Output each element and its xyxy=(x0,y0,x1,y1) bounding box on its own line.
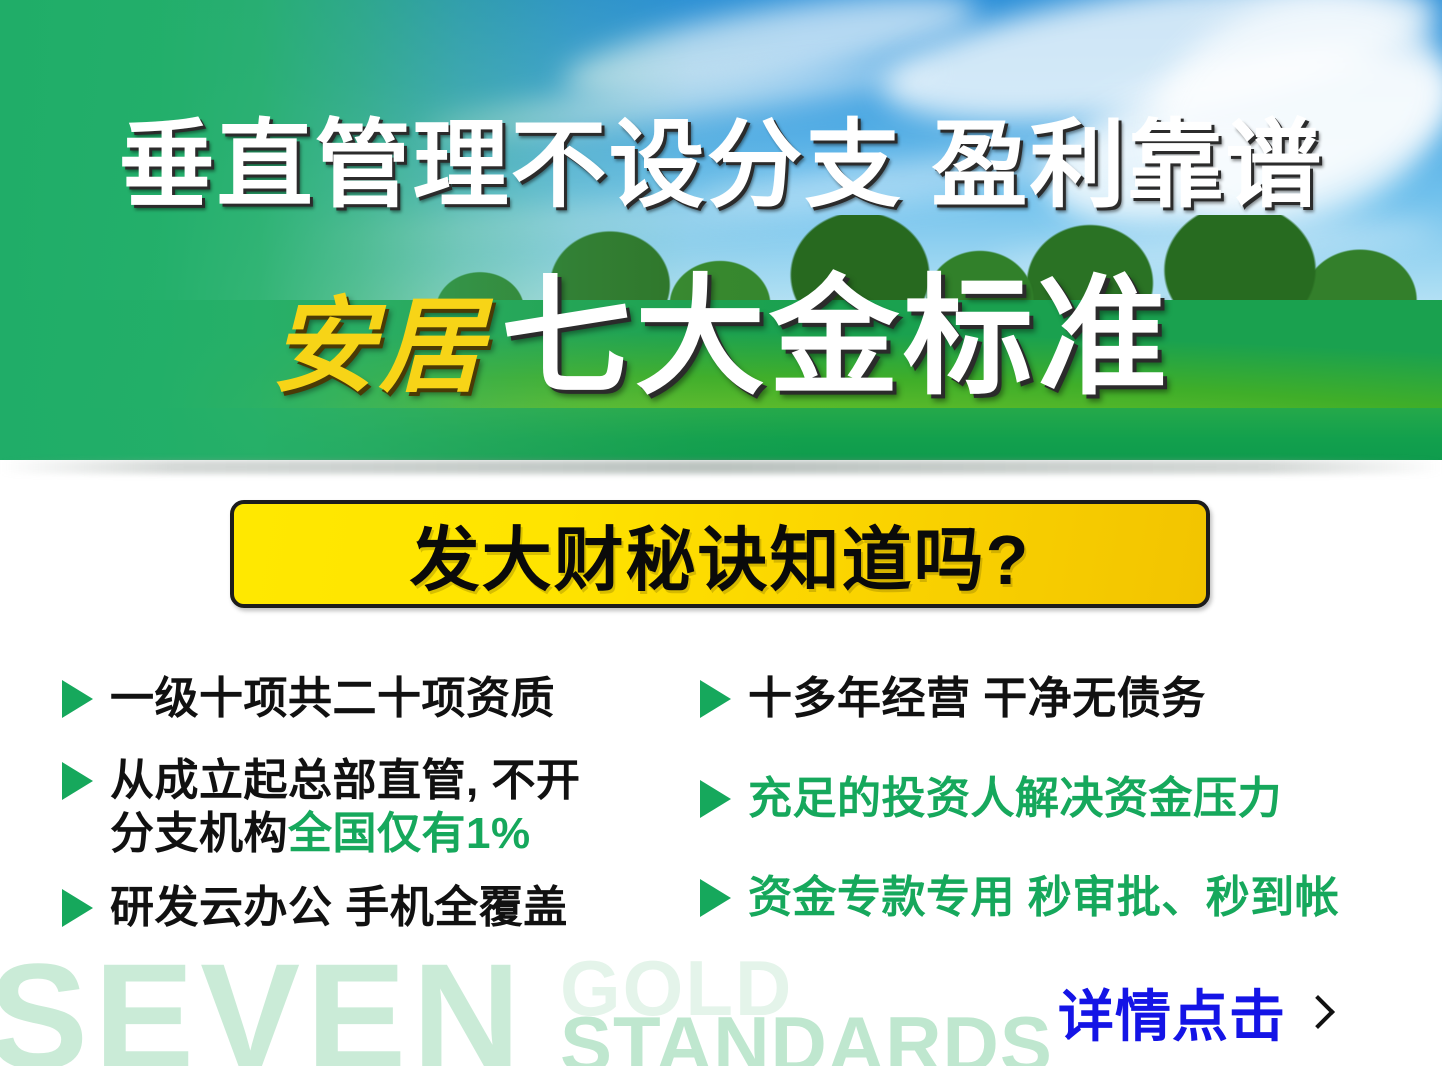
hero-headline: 七大金标准 xyxy=(501,264,1171,410)
triangle-bullet-icon xyxy=(62,762,93,800)
list-item: 从成立起总部直管, 不开 分支机构全国仅有1% xyxy=(62,754,682,861)
banner-drop-shadow xyxy=(0,460,1442,474)
watermark-standards: STANDARDS xyxy=(560,1005,1053,1066)
bullet-line-2-plain: 分支机构 xyxy=(110,809,288,858)
hero-tagline: 垂直管理不设分支 盈利靠谱 xyxy=(0,118,1442,214)
triangle-bullet-icon xyxy=(700,879,731,917)
bullet-line-2-highlight: 全国仅有1% xyxy=(288,809,531,858)
watermark-gold: GOLD xyxy=(560,955,793,1027)
bullet-text: 十多年经营 干净无债务 xyxy=(748,672,1206,726)
bullet-line-1: 从成立起总部直管, 不开 xyxy=(110,754,580,808)
bullet-text: 资金专款专用 秒审批、秒到帐 xyxy=(748,871,1339,925)
bullet-line-2: 分支机构全国仅有1% xyxy=(110,807,580,861)
bullet-text: 研发云办公 手机全覆盖 xyxy=(110,881,568,935)
details-link[interactable]: 详情点击 xyxy=(1058,972,1324,1053)
list-item: 研发云办公 手机全覆盖 xyxy=(62,881,682,935)
triangle-bullet-icon xyxy=(62,889,93,927)
list-item: 十多年经营 干净无债务 xyxy=(700,672,1400,726)
triangle-bullet-icon xyxy=(700,680,731,718)
list-item: 充足的投资人解决资金压力 xyxy=(700,772,1400,826)
benefits-column-left: 一级十项共二十项资质 从成立起总部直管, 不开 分支机构全国仅有1% 研发云办公… xyxy=(62,672,682,957)
hero-headline-row: 安居七大金标准 xyxy=(0,272,1442,402)
bullet-text: 充足的投资人解决资金压力 xyxy=(748,772,1282,826)
watermark-seven: SEVEN xyxy=(0,955,527,1066)
background-watermark: SEVEN GOLD STANDARDS xyxy=(0,955,1100,1066)
benefits-column-right: 十多年经营 干净无债务 充足的投资人解决资金压力 资金专款专用 秒审批、秒到帐 xyxy=(700,672,1400,947)
details-link-label: 详情点击 xyxy=(1058,972,1286,1053)
hero-brand-name: 安居 xyxy=(271,290,487,405)
hero-banner: 垂直管理不设分支 盈利靠谱 安居七大金标准 xyxy=(0,0,1442,460)
chevron-right-icon xyxy=(1304,995,1324,1031)
triangle-bullet-icon xyxy=(700,780,731,818)
list-item: 一级十项共二十项资质 xyxy=(62,672,682,726)
list-item: 资金专款专用 秒审批、秒到帐 xyxy=(700,871,1400,925)
bullet-text-multiline: 从成立起总部直管, 不开 分支机构全国仅有1% xyxy=(110,754,580,861)
cta-headline-button[interactable]: 发大财秘诀知道吗? xyxy=(230,500,1210,608)
cta-headline-text: 发大财秘诀知道吗? xyxy=(410,504,1031,605)
bullet-text: 一级十项共二十项资质 xyxy=(110,672,555,726)
triangle-bullet-icon xyxy=(62,680,93,718)
